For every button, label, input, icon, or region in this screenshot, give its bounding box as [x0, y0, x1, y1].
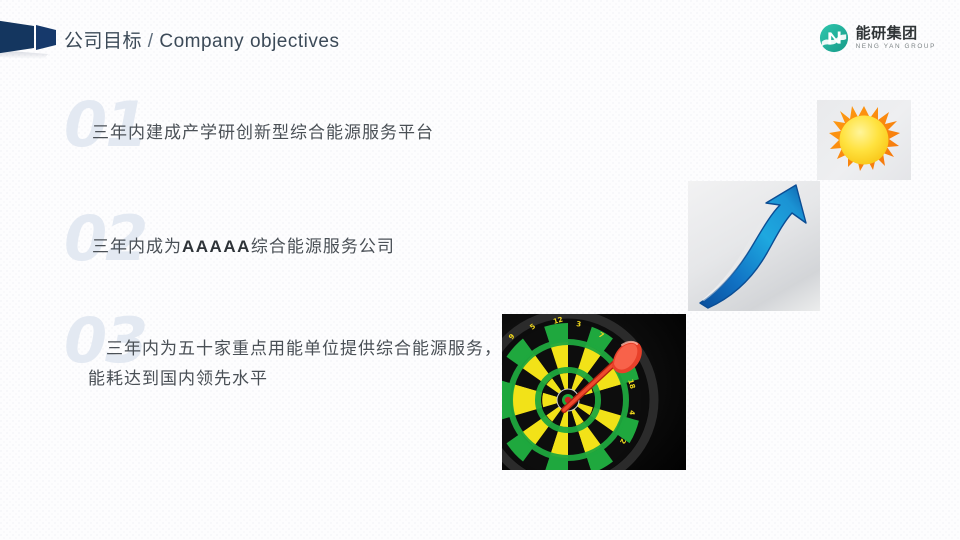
objective-text: 三年内建成产学研创新型综合能源服务平台 — [0, 118, 620, 148]
slide-header: 公司目标 / Company objectives 能研集团 — [0, 0, 960, 78]
banner-segment-large — [0, 20, 34, 54]
page-title-cn: 公司目标 — [64, 31, 142, 52]
dartboard: 9 5 12 3 7 1 18 4 2 — [502, 314, 654, 470]
objective-item-01: 01 三年内建成产学研创新型综合能源服务平台 — [0, 118, 620, 176]
objective-item-02: 02 三年内成为AAAAA综合能源服务公司 — [0, 232, 620, 290]
page-title: 公司目标 / Company objectives — [64, 26, 339, 53]
chevron-banner-icon — [0, 20, 56, 54]
banner-segment-small — [36, 25, 56, 50]
company-logo: 能研集团 NENG YAN GROUP — [819, 20, 936, 56]
objective-text-tail: 综合能源服务公司 — [251, 237, 395, 256]
logo-wordmark: 能研集团 NENG YAN GROUP — [856, 26, 936, 50]
sun-illustration — [817, 100, 911, 180]
slide-canvas: 公司目标 / Company objectives 能研集团 — [0, 0, 960, 540]
objective-text: 三年内成为AAAAA综合能源服务公司 — [0, 232, 620, 262]
page-title-separator: / — [142, 31, 159, 52]
logo-name-cn: 能研集团 — [856, 26, 936, 41]
nengyan-circle-n-logo-icon — [819, 23, 849, 53]
svg-text:4: 4 — [627, 410, 635, 416]
page-title-en: Company objectives — [159, 31, 339, 52]
logo-name-en: NENG YAN GROUP — [856, 44, 936, 50]
upward-growth-arrow-image — [688, 181, 820, 311]
objective-text-emphasis: AAAAA — [182, 237, 251, 256]
dartboard-with-dart-image: 9 5 12 3 7 1 18 4 2 — [502, 314, 686, 470]
objective-text-body: 三年内建成产学研创新型综合能源服务平台 — [92, 123, 434, 142]
objective-text-body: 三年内成为 — [92, 237, 182, 256]
arrow-shape — [700, 185, 806, 308]
